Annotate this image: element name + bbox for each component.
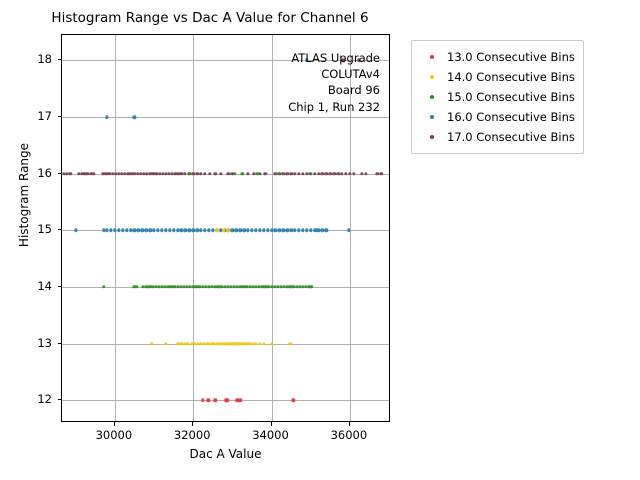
data-point — [156, 229, 159, 232]
y-tick-mark — [58, 343, 62, 344]
data-point — [172, 229, 175, 232]
data-point — [208, 172, 211, 175]
data-point — [129, 229, 132, 232]
legend-marker-icon — [417, 55, 447, 59]
data-point — [92, 172, 95, 175]
legend-dot-icon — [430, 115, 434, 119]
data-point — [258, 229, 261, 232]
data-point — [133, 115, 136, 118]
data-point — [289, 229, 292, 232]
data-point — [188, 229, 191, 232]
x-tick-label: 30000 — [96, 428, 133, 442]
legend-dot-icon — [430, 95, 434, 99]
data-point — [203, 172, 206, 175]
data-point — [233, 172, 236, 175]
data-point — [216, 229, 219, 232]
legend-item-label: 17.0 Consecutive Bins — [447, 130, 575, 144]
data-point — [297, 229, 300, 232]
data-point — [105, 229, 108, 232]
data-point — [133, 229, 136, 232]
data-point — [292, 399, 295, 402]
data-point — [192, 229, 195, 232]
data-point — [301, 172, 304, 175]
data-point — [231, 229, 234, 232]
data-point — [325, 229, 328, 232]
legend-item[interactable]: 16.0 Consecutive Bins — [417, 107, 575, 127]
data-point — [376, 172, 379, 175]
data-point — [69, 172, 72, 175]
y-tick-label: 17 — [37, 109, 52, 123]
data-point — [329, 172, 332, 175]
data-point — [227, 229, 230, 232]
data-point — [121, 229, 124, 232]
annotation-text: ATLAS Upgrade COLUTAv4 Board 96 Chip 1, … — [160, 50, 380, 115]
data-point — [239, 399, 242, 402]
data-point — [145, 229, 148, 232]
data-point — [262, 229, 265, 232]
data-point — [192, 172, 195, 175]
data-point — [262, 342, 265, 345]
data-point — [240, 172, 243, 175]
data-point — [176, 229, 179, 232]
data-point — [141, 229, 144, 232]
y-tick-label: 15 — [37, 222, 52, 236]
data-point — [227, 172, 230, 175]
data-point — [242, 229, 245, 232]
data-point — [109, 229, 112, 232]
data-point — [201, 399, 204, 402]
x-tick-mark — [192, 422, 193, 426]
legend-item[interactable]: 14.0 Consecutive Bins — [417, 67, 575, 87]
y-axis-label: Histogram Range — [17, 95, 31, 295]
data-point — [186, 342, 189, 345]
x-tick-label: 34000 — [252, 428, 289, 442]
gridline-horizontal — [62, 117, 389, 118]
data-point — [270, 342, 273, 345]
chart-title: Histogram Range vs Dac A Value for Chann… — [0, 10, 420, 26]
data-point — [266, 229, 269, 232]
legend-item-label: 16.0 Consecutive Bins — [447, 110, 575, 124]
x-tick-mark — [349, 422, 350, 426]
data-point — [282, 172, 285, 175]
data-point — [184, 229, 187, 232]
legend-item-label: 14.0 Consecutive Bins — [447, 70, 575, 84]
data-point — [270, 229, 273, 232]
data-point — [235, 229, 238, 232]
data-point — [211, 229, 214, 232]
data-point — [348, 172, 351, 175]
data-point — [207, 229, 210, 232]
data-point — [199, 229, 202, 232]
data-point — [340, 172, 343, 175]
y-tick-mark — [58, 59, 62, 60]
data-point — [160, 229, 163, 232]
x-tick-mark — [114, 422, 115, 426]
data-point — [282, 229, 285, 232]
data-point — [305, 229, 308, 232]
data-point — [336, 172, 339, 175]
x-tick-mark — [271, 422, 272, 426]
legend-item-label: 15.0 Consecutive Bins — [447, 90, 575, 104]
data-point — [313, 172, 316, 175]
data-point — [286, 229, 289, 232]
data-point — [289, 342, 292, 345]
data-point — [188, 172, 191, 175]
data-point — [364, 172, 367, 175]
data-point — [333, 172, 336, 175]
x-tick-label: 36000 — [331, 428, 368, 442]
data-point — [150, 342, 153, 345]
data-point — [254, 229, 257, 232]
data-point — [183, 172, 186, 175]
y-tick-mark — [58, 173, 62, 174]
data-point — [250, 229, 253, 232]
legend-item[interactable]: 13.0 Consecutive Bins — [417, 47, 575, 67]
data-point — [301, 229, 304, 232]
y-tick-mark — [58, 399, 62, 400]
data-point — [180, 229, 183, 232]
x-tick-label: 32000 — [174, 428, 211, 442]
data-point — [207, 399, 210, 402]
y-tick-mark — [58, 229, 62, 230]
y-tick-label: 13 — [37, 336, 52, 350]
legend-dot-icon — [430, 75, 434, 79]
data-point — [148, 229, 151, 232]
legend-item[interactable]: 17.0 Consecutive Bins — [417, 127, 575, 147]
data-point — [321, 229, 324, 232]
data-point — [239, 229, 242, 232]
data-point — [135, 285, 138, 288]
legend-item-label: 13.0 Consecutive Bins — [447, 50, 575, 64]
data-point — [105, 115, 108, 118]
legend-marker-icon — [417, 115, 447, 119]
data-point — [360, 172, 363, 175]
data-point — [164, 229, 167, 232]
data-point — [293, 172, 296, 175]
data-point — [278, 229, 281, 232]
data-point — [137, 229, 140, 232]
data-point — [117, 229, 120, 232]
data-point — [344, 172, 347, 175]
data-point — [317, 172, 320, 175]
data-point — [152, 229, 155, 232]
legend: 13.0 Consecutive Bins14.0 Consecutive Bi… — [411, 40, 584, 154]
data-point — [310, 285, 313, 288]
y-tick-label: 18 — [37, 52, 52, 66]
chart-figure: Histogram Range vs Dac A Value for Chann… — [0, 0, 640, 480]
data-point — [164, 342, 167, 345]
data-point — [380, 172, 383, 175]
data-point — [254, 342, 257, 345]
data-point — [352, 172, 355, 175]
legend-marker-icon — [417, 75, 447, 79]
x-axis-label: Dac A Value — [61, 447, 390, 461]
data-point — [286, 172, 289, 175]
y-tick-mark — [58, 286, 62, 287]
data-point — [113, 229, 116, 232]
legend-marker-icon — [417, 95, 447, 99]
data-point — [274, 229, 277, 232]
data-point — [195, 229, 198, 232]
y-tick-label: 14 — [37, 279, 52, 293]
data-point — [309, 229, 312, 232]
data-point — [258, 342, 261, 345]
data-point — [213, 172, 216, 175]
data-point — [264, 172, 267, 175]
data-point — [125, 229, 128, 232]
data-point — [74, 229, 77, 232]
y-tick-label: 12 — [37, 392, 52, 406]
data-point — [219, 172, 222, 175]
data-point — [168, 229, 171, 232]
data-point — [293, 229, 296, 232]
data-point — [289, 172, 292, 175]
data-point — [203, 229, 206, 232]
y-tick-mark — [58, 116, 62, 117]
legend-marker-icon — [417, 135, 447, 139]
data-point — [246, 172, 249, 175]
data-point — [252, 172, 255, 175]
data-point — [321, 172, 324, 175]
data-point — [195, 172, 198, 175]
data-point — [199, 172, 202, 175]
data-point — [297, 172, 300, 175]
y-tick-label: 16 — [37, 166, 52, 180]
data-point — [102, 285, 105, 288]
data-point — [213, 399, 216, 402]
data-point — [325, 172, 328, 175]
legend-item[interactable]: 15.0 Consecutive Bins — [417, 87, 575, 107]
legend-dot-icon — [430, 135, 434, 139]
data-point — [226, 399, 229, 402]
legend-dot-icon — [430, 55, 434, 59]
data-point — [246, 229, 249, 232]
